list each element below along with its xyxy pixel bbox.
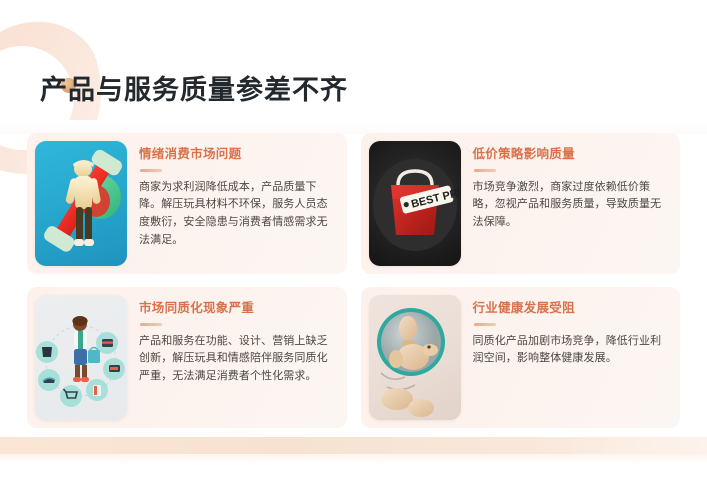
heading-rule [474, 323, 496, 326]
card-body: 低价策略影响质量 市场竞争激烈，商家过度依赖低价策略，忽视产品和服务质量，导致质… [461, 133, 681, 240]
card-text: 产品和服务在功能、设计、营销上缺乏创新，解压玩具和情感陪伴服务同质化严重，无法满… [139, 333, 333, 386]
card-thumbnail [369, 295, 461, 420]
heading-rule [140, 323, 162, 326]
bottom-peach-band-fade [0, 454, 707, 464]
card-thumbnail: BEST PRICE [369, 141, 461, 266]
figure-with-red-arrow-photo [35, 141, 127, 266]
card-text: 同质化产品加剧市场竞争，降低行业利润空间，影响整体健康发展。 [473, 333, 667, 369]
card-body: 情绪消费市场问题 商家为求利润降低成本，产品质量下降。解压玩具材料不环保，服务人… [127, 133, 347, 258]
card-heading: 市场同质化现象严重 [139, 301, 333, 317]
top-wash [0, 120, 707, 134]
heading-rule [474, 169, 496, 172]
card-heading: 低价策略影响质量 [473, 147, 667, 163]
red-shopping-bag-best-price-photo: BEST PRICE [369, 141, 461, 266]
card-homogenization[interactable]: 市场同质化现象严重 产品和服务在功能、设计、营销上缺乏创新，解压玩具和情感陪伴服… [27, 287, 347, 428]
card-heading: 情绪消费市场问题 [139, 147, 333, 163]
heading-rule [140, 169, 162, 172]
card-heading: 行业健康发展受阻 [473, 301, 667, 317]
bottom-peach-band [0, 437, 707, 454]
page-title: 产品与服务质量参差不齐 [40, 74, 348, 106]
card-emotional-consumption[interactable]: 情绪消费市场问题 商家为求利润降低成本，产品质量下降。解压玩具材料不环保，服务人… [27, 133, 347, 274]
slide-canvas: 产品与服务质量参差不齐 [0, 0, 707, 500]
card-text: 商家为求利润降低成本，产品质量下降。解压玩具材料不环保，服务人员态度敷衍，安全隐… [139, 179, 333, 250]
card-industry-growth-blocked[interactable]: 行业健康发展受阻 同质化产品加剧市场竞争，降低行业利润空间，影响整体健康发展。 [361, 287, 681, 428]
wooden-mannequin-mirror-photo [369, 295, 461, 420]
card-body: 市场同质化现象严重 产品和服务在功能、设计、营销上缺乏创新，解压玩具和情感陪伴服… [127, 287, 347, 394]
card-thumbnail [35, 141, 127, 266]
card-thumbnail [35, 295, 127, 420]
shopper-with-icons-illustration [35, 295, 127, 420]
cards-grid: 情绪消费市场问题 商家为求利润降低成本，产品质量下降。解压玩具材料不环保，服务人… [27, 133, 680, 428]
card-text: 市场竞争激烈，商家过度依赖低价策略，忽视产品和服务质量，导致质量无法保障。 [473, 179, 667, 232]
card-body: 行业健康发展受阻 同质化产品加剧市场竞争，降低行业利润空间，影响整体健康发展。 [461, 287, 681, 376]
card-low-price-strategy[interactable]: BEST PRICE 低价策略影响质量 市场竞争激烈，商家过度依赖低价策略，忽视… [361, 133, 681, 274]
